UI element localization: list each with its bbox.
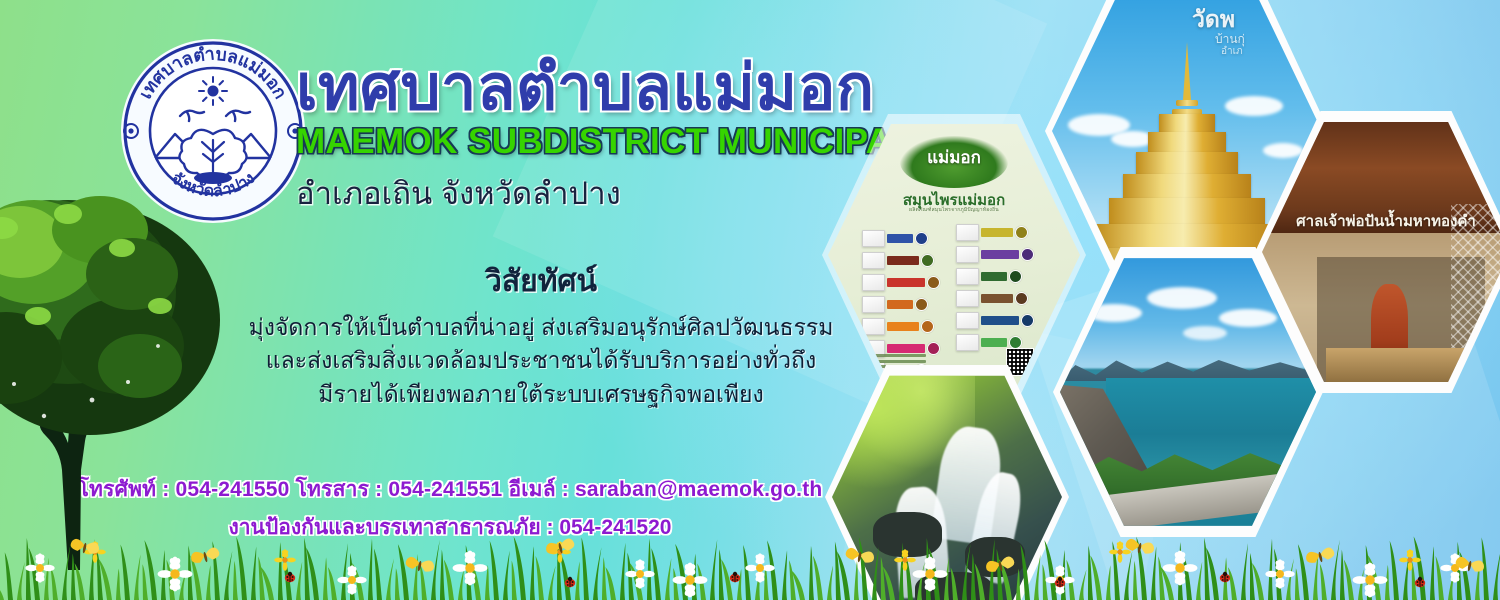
product-badge-icon <box>921 254 934 267</box>
grass-flower-strip <box>0 522 1500 600</box>
page-title-thai: เทศบาลตำบลแม่มอก <box>296 56 976 120</box>
product-badge-icon <box>927 276 940 289</box>
product-box-icon <box>862 296 885 313</box>
pagoda-label-line3: อำเภ <box>1221 44 1243 59</box>
product-box-icon <box>862 318 885 335</box>
product-badge-icon <box>1021 248 1034 261</box>
poster-product-row <box>956 246 1034 263</box>
product-bar <box>981 272 1007 281</box>
product-box-icon <box>956 268 979 285</box>
poster-product-row <box>862 274 940 291</box>
product-badge-icon <box>1021 314 1034 327</box>
sun-icon <box>199 77 227 105</box>
product-bar <box>981 316 1019 325</box>
vision-line-2: และส่งเสริมสิ่งแวดล้อมประชาชนได้รับบริกา… <box>196 344 886 377</box>
product-box-icon <box>862 230 885 247</box>
poster-product-row <box>862 252 934 269</box>
product-bar <box>981 338 1007 347</box>
product-box-icon <box>862 252 885 269</box>
product-box-icon <box>956 334 979 351</box>
poster-product-row <box>862 318 934 335</box>
poster-subheading: ผลิตภัณฑ์สมุนไพรจากภูมิปัญญาท้องถิ่น <box>828 206 1080 214</box>
poster-product-row <box>862 230 928 247</box>
product-box-icon <box>956 312 979 329</box>
poster-product-row <box>862 296 928 313</box>
product-bar <box>887 278 925 287</box>
vision-heading: วิสัยทัศน์ <box>196 258 886 305</box>
poster-logo-text: แม่มอก <box>927 144 981 171</box>
poster-product-row <box>956 268 1022 285</box>
product-badge-icon <box>1015 226 1028 239</box>
product-badge-icon <box>927 342 940 355</box>
poster-product-row <box>956 224 1028 241</box>
product-box-icon <box>956 290 979 307</box>
product-badge-icon <box>1015 292 1028 305</box>
product-bar <box>887 256 919 265</box>
product-bar <box>887 322 919 331</box>
shrine-altar <box>1326 348 1465 386</box>
product-box-icon <box>956 224 979 241</box>
vision-line-1: มุ่งจัดการให้เป็นตำบลที่น่าอยู่ ส่งเสริม… <box>196 311 886 344</box>
product-bar <box>887 234 913 243</box>
product-badge-icon <box>921 320 934 333</box>
product-bar <box>887 300 913 309</box>
product-badge-icon <box>915 232 928 245</box>
vision-statement: วิสัยทัศน์ มุ่งจัดการให้เป็นตำบลที่น่าอย… <box>196 258 886 411</box>
product-bar <box>981 294 1013 303</box>
foreground-tree <box>0 170 232 570</box>
product-box-icon <box>956 246 979 263</box>
product-badge-icon <box>1009 270 1022 283</box>
product-bar <box>981 228 1013 237</box>
tree-canopy-icon <box>0 196 220 435</box>
product-bar <box>887 344 925 353</box>
municipality-banner: เทศบาลตำบลแม่มอก จังหวัดลำปาง <box>0 0 1500 600</box>
product-badge-icon <box>915 298 928 311</box>
poster-product-row <box>956 312 1034 329</box>
poster-product-row <box>956 290 1028 307</box>
product-box-icon <box>862 274 885 291</box>
vision-line-3: มีรายได้เพียงพอภายใต้ระบบเศรษฐกิจพอเพียง <box>196 378 886 411</box>
mountain-range <box>1060 353 1316 381</box>
product-bar <box>981 250 1019 259</box>
